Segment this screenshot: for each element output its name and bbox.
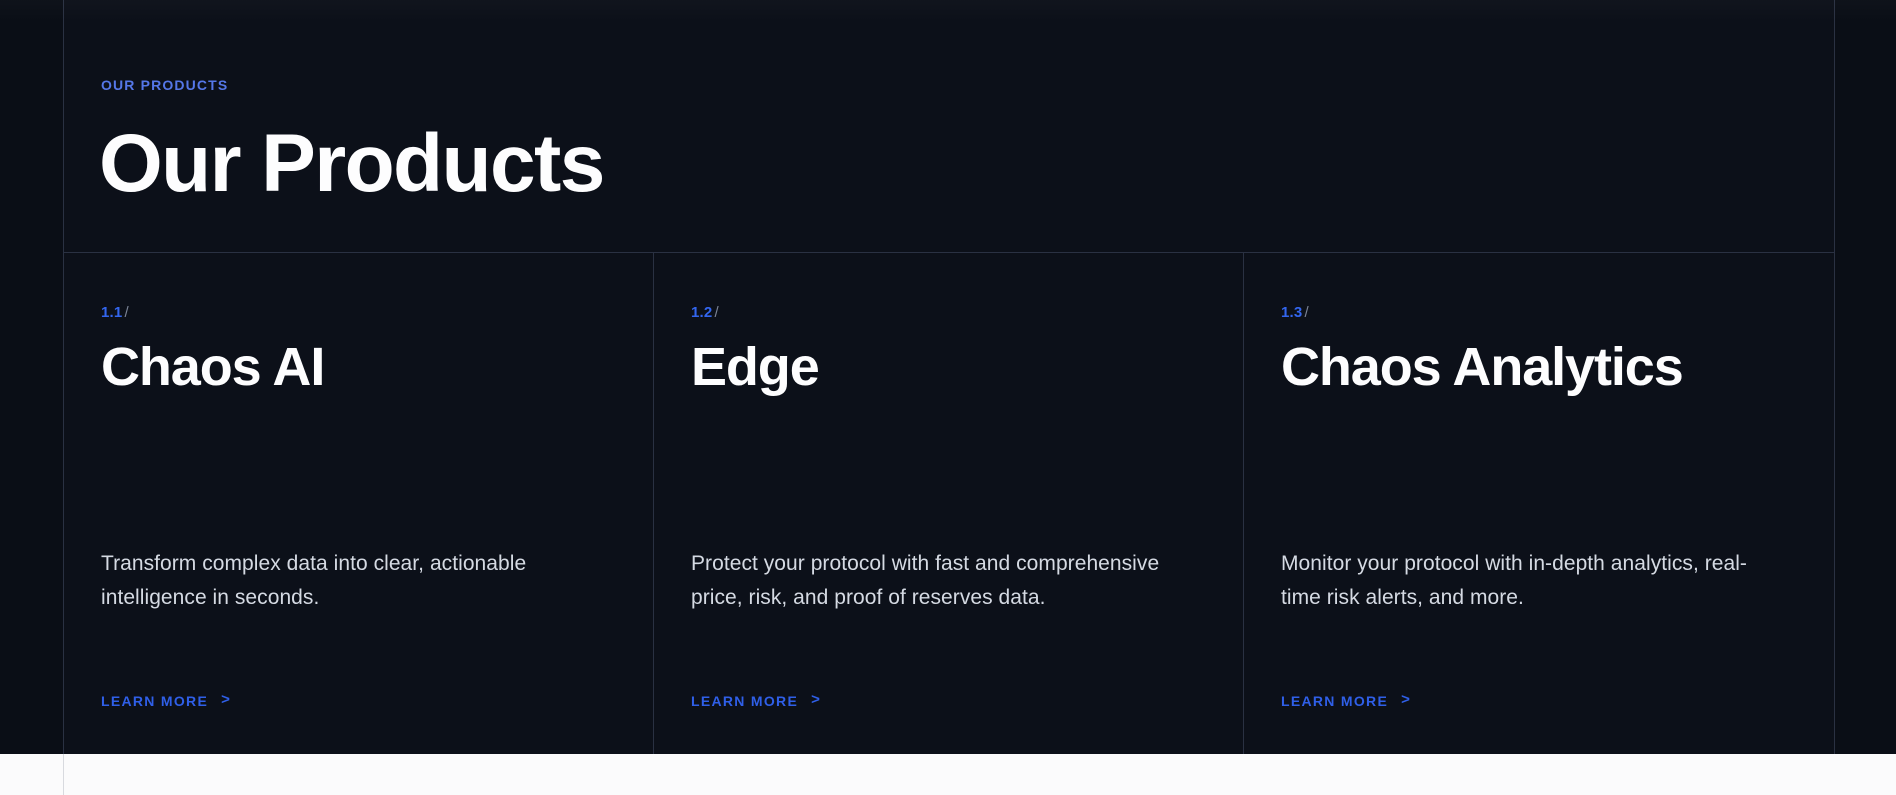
product-card-grid: 1.1/ Chaos AI Transform complex data int… [64, 253, 1834, 754]
card-title: Edge [691, 339, 1203, 395]
card-description: Transform complex data into clear, actio… [101, 547, 601, 615]
page-title: Our Products [99, 123, 604, 205]
chevron-right-icon: > [811, 692, 820, 707]
content-frame: OUR PRODUCTS Our Products 1.1/ Chaos AI … [63, 0, 1835, 754]
section-eyebrow: OUR PRODUCTS [101, 78, 228, 92]
card-index-number: 1.1 [101, 304, 122, 321]
product-card-chaos-ai[interactable]: 1.1/ Chaos AI Transform complex data int… [64, 253, 654, 754]
card-index: 1.2/ [691, 305, 1203, 320]
learn-more-link[interactable]: LEARN MORE > [691, 693, 820, 708]
product-card-chaos-analytics[interactable]: 1.3/ Chaos Analytics Monitor your protoc… [1244, 253, 1834, 754]
card-index-number: 1.3 [1281, 304, 1302, 321]
card-description: Protect your protocol with fast and comp… [691, 547, 1191, 615]
card-index-number: 1.2 [691, 304, 712, 321]
next-section-top-edge [0, 754, 1896, 795]
card-index-separator: / [714, 304, 718, 321]
card-index: 1.3/ [1281, 305, 1794, 320]
card-index-separator: / [1304, 304, 1308, 321]
learn-more-link[interactable]: LEARN MORE > [101, 693, 230, 708]
card-index: 1.1/ [101, 305, 613, 320]
card-index-separator: / [124, 304, 128, 321]
learn-more-label: LEARN MORE [691, 694, 798, 708]
chevron-right-icon: > [221, 692, 230, 707]
card-title: Chaos AI [101, 339, 613, 395]
learn-more-link[interactable]: LEARN MORE > [1281, 693, 1410, 708]
chevron-right-icon: > [1401, 692, 1410, 707]
learn-more-label: LEARN MORE [1281, 694, 1388, 708]
page-root: OUR PRODUCTS Our Products 1.1/ Chaos AI … [0, 0, 1896, 795]
our-products-section: OUR PRODUCTS Our Products 1.1/ Chaos AI … [0, 0, 1896, 754]
learn-more-label: LEARN MORE [101, 694, 208, 708]
card-title: Chaos Analytics [1281, 339, 1794, 395]
product-card-edge[interactable]: 1.2/ Edge Protect your protocol with fas… [654, 253, 1244, 754]
grid-rule-left [63, 754, 64, 795]
card-description: Monitor your protocol with in-depth anal… [1281, 547, 1781, 615]
section-header: OUR PRODUCTS Our Products [64, 0, 1834, 253]
